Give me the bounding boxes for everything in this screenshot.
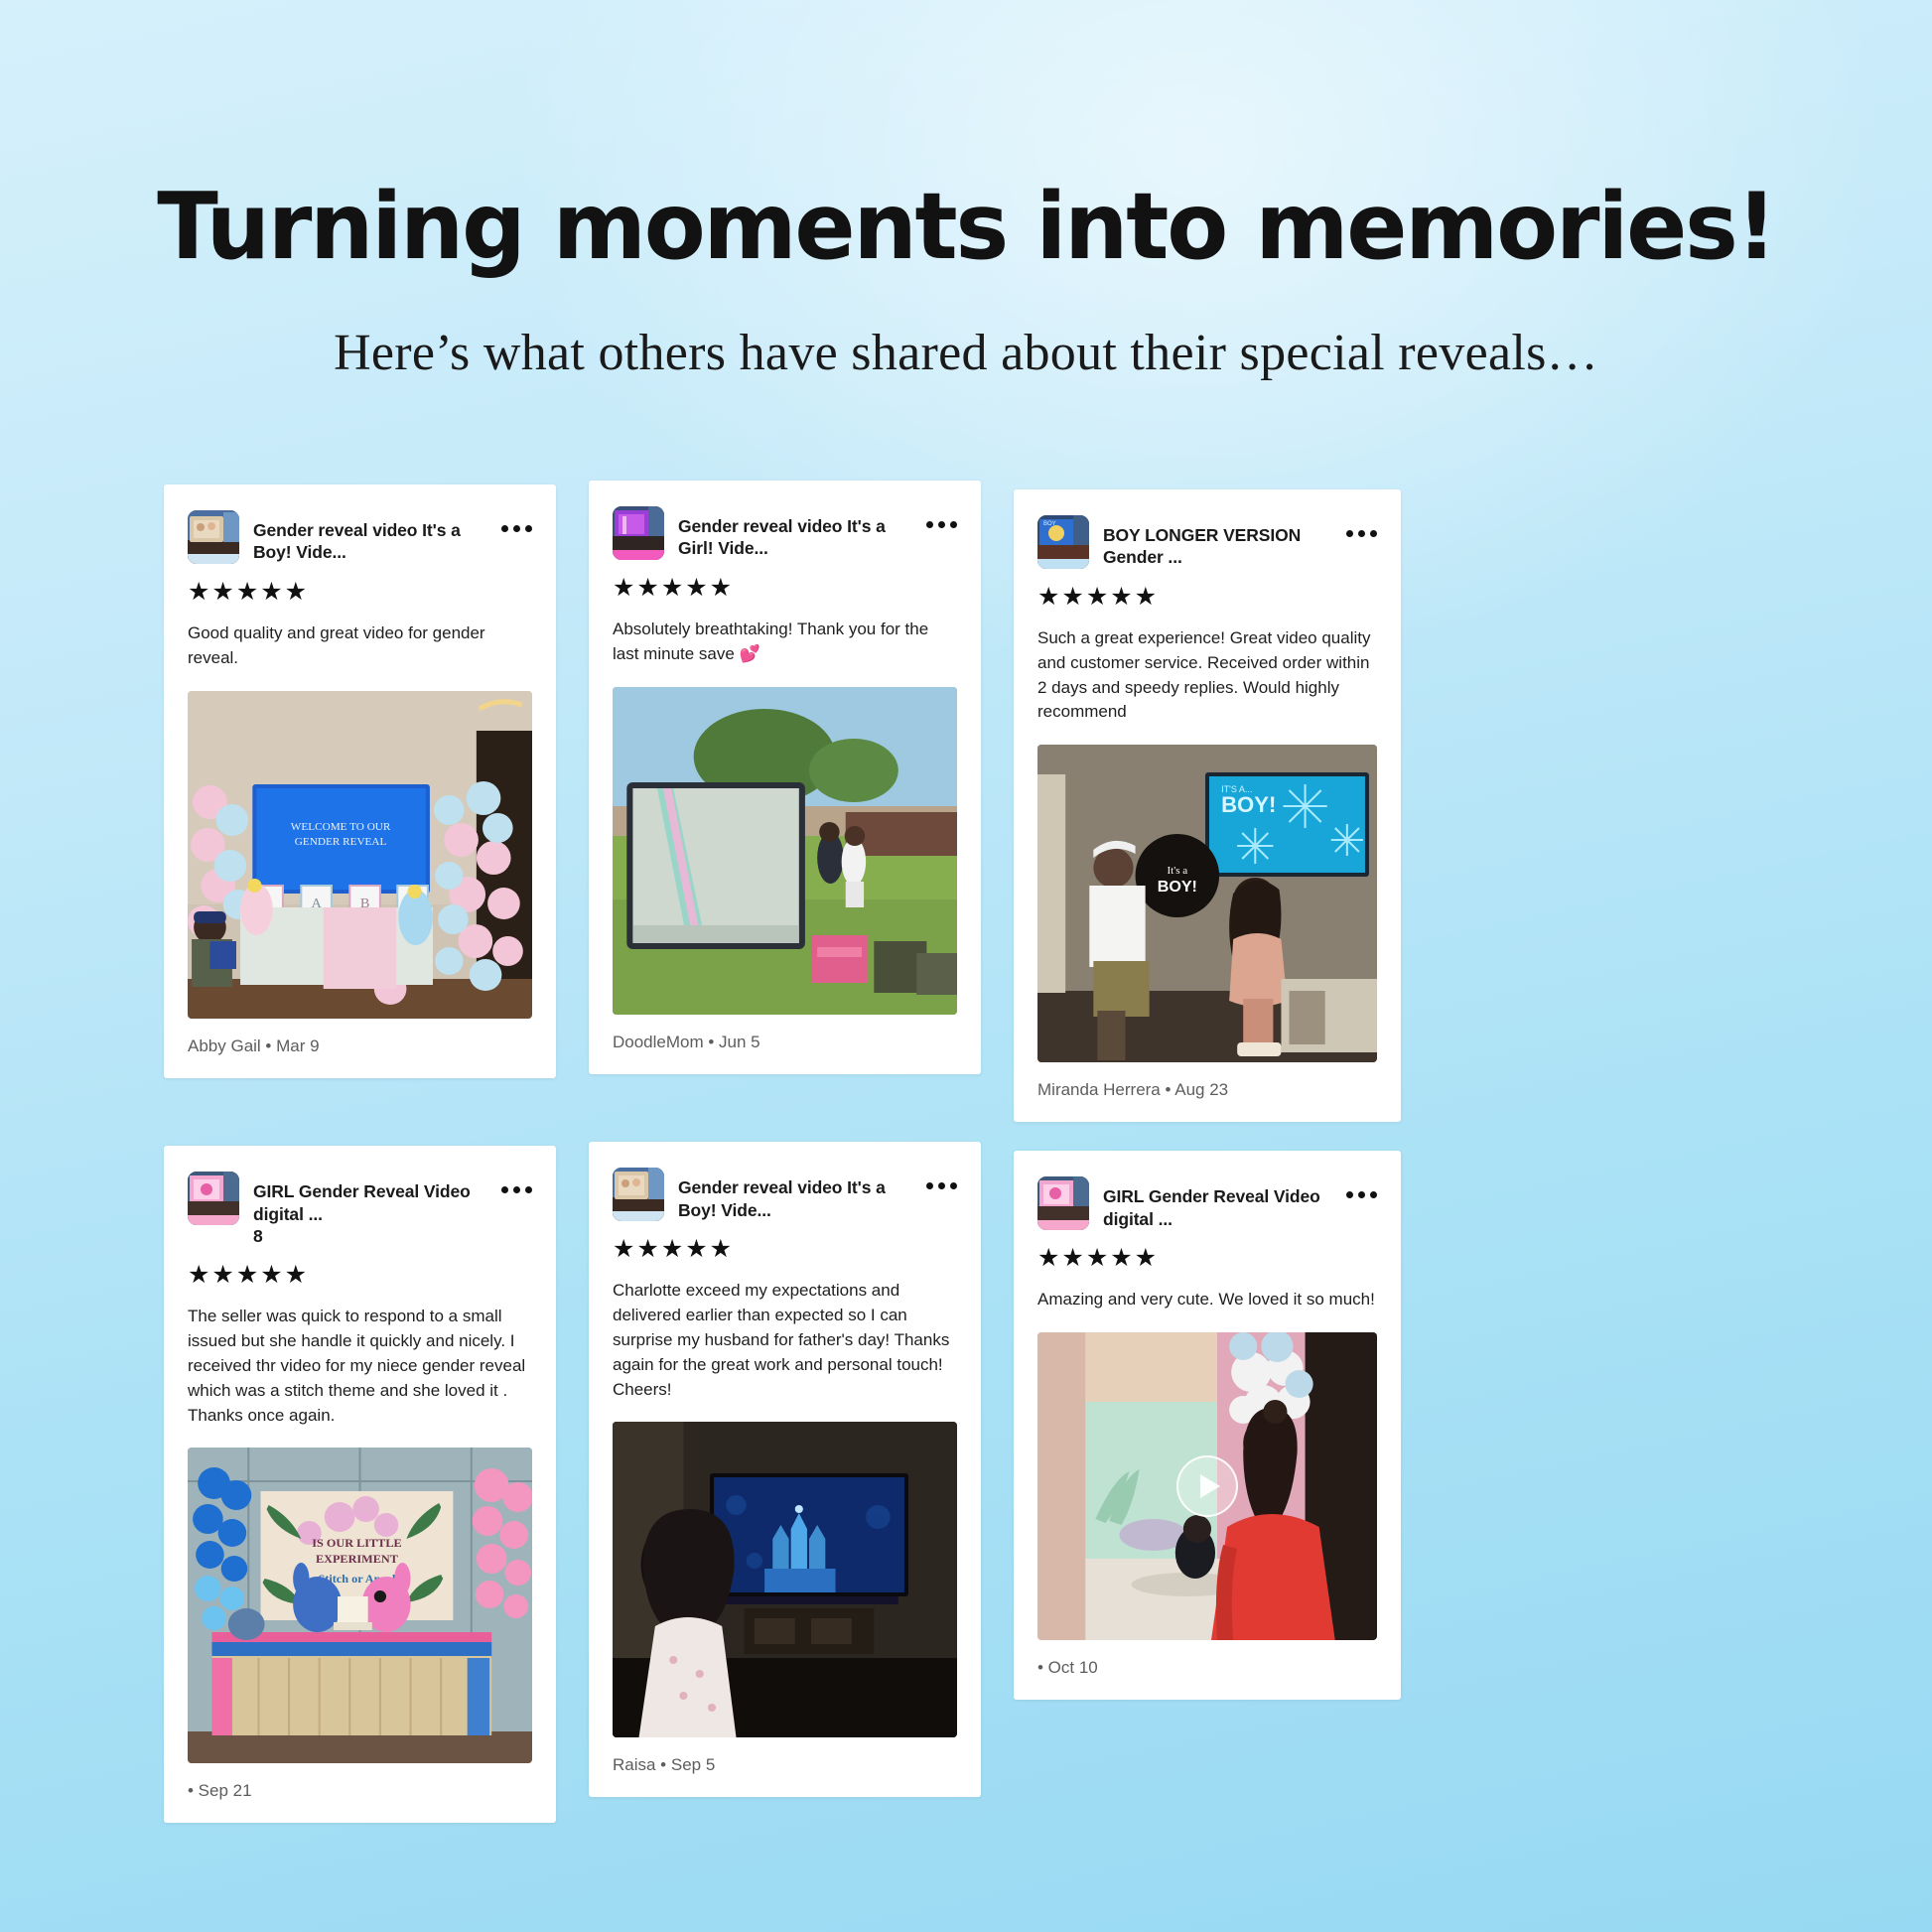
review-card[interactable]: BOY BOY LONGER VERSION Gender ... ★★★★★ … [1014,489,1401,1122]
review-byline: DoodleMom • Jun 5 [613,1033,957,1052]
listing-title-text: GIRL Gender Reveal Video digital ... [253,1181,471,1223]
review-byline: Abby Gail • Mar 9 [188,1036,532,1056]
listing-title[interactable]: Gender reveal video It's a Boy! Vide... [253,510,487,564]
star-rating: ★★★★★ [1037,1246,1377,1271]
listing-title[interactable]: Gender reveal video It's a Boy! Vide... [678,1168,912,1221]
star-rating: ★★★★★ [613,1237,957,1262]
review-text-body: Absolutely breathtaking! Thank you for t… [613,620,928,663]
listing-thumbnail[interactable]: BOY [1037,515,1089,569]
ellipsis-icon[interactable] [1346,515,1377,537]
listing-title-line2: 8 [253,1226,263,1246]
review-byline: Raisa • Sep 5 [613,1755,957,1775]
review-text: The seller was quick to respond to a sma… [188,1305,532,1428]
review-photo[interactable]: IT'S A... BOY! It's a BOY! [1037,745,1377,1062]
ellipsis-icon[interactable] [926,506,957,528]
svg-text:EXPERIMENT: EXPERIMENT [316,1553,398,1567]
review-byline: • Sep 21 [188,1781,532,1801]
star-rating: ★★★★★ [188,1263,532,1288]
ellipsis-icon[interactable] [1346,1176,1377,1198]
hearts-icon: 💕 [740,644,760,663]
listing-thumbnail[interactable] [613,506,664,560]
svg-text:BOY!: BOY! [1221,792,1276,817]
listing-thumbnail[interactable] [613,1168,664,1221]
review-photo[interactable]: WELCOME TO OUR GENDER REVEAL [188,691,532,1019]
svg-text:It's a: It's a [1167,865,1187,877]
reviews-grid: Gender reveal video It's a Boy! Vide... … [164,484,1768,1823]
listing-title[interactable]: GIRL Gender Reveal Video digital ...8 [253,1172,487,1247]
review-card-header: Gender reveal video It's a Boy! Vide... [613,1168,957,1221]
review-photo[interactable] [613,1422,957,1737]
review-photo[interactable]: IS OUR LITTLE EXPERIMENT Stitch or Angel [188,1448,532,1763]
review-video[interactable] [1037,1332,1377,1640]
svg-text:WELCOME TO OUR: WELCOME TO OUR [291,821,391,833]
review-text: Such a great experience! Great video qua… [1037,626,1377,725]
review-card-header: Gender reveal video It's a Boy! Vide... [188,510,532,564]
review-text: Charlotte exceed my expectations and del… [613,1279,957,1402]
play-icon[interactable] [1176,1455,1238,1517]
review-card[interactable]: GIRL Gender Reveal Video digital ... ★★★… [1014,1151,1401,1700]
listing-title[interactable]: GIRL Gender Reveal Video digital ... [1103,1176,1332,1230]
star-rating: ★★★★★ [188,580,532,605]
ellipsis-icon[interactable] [501,1172,532,1193]
review-text: Good quality and great video for gender … [188,621,532,671]
review-text: Absolutely breathtaking! Thank you for t… [613,618,957,667]
review-card-header: GIRL Gender Reveal Video digital ...8 [188,1172,532,1247]
page-title: Turning moments into memories! [29,181,1903,273]
listing-thumbnail[interactable] [188,1172,239,1225]
svg-text:IS OUR LITTLE: IS OUR LITTLE [312,1537,401,1551]
review-text: Amazing and very cute. We loved it so mu… [1037,1288,1377,1312]
page-subtitle: Here’s what others have shared about the… [0,325,1932,381]
review-byline: • Oct 10 [1037,1658,1377,1678]
review-card[interactable]: Gender reveal video It's a Girl! Vide...… [589,481,981,1074]
listing-title[interactable]: BOY LONGER VERSION Gender ... [1103,515,1332,569]
review-card-header: Gender reveal video It's a Girl! Vide... [613,506,957,560]
svg-text:BOY: BOY [1043,521,1056,527]
review-card[interactable]: Gender reveal video It's a Boy! Vide... … [164,484,556,1078]
review-card-header: BOY BOY LONGER VERSION Gender ... [1037,515,1377,569]
review-card-header: GIRL Gender Reveal Video digital ... [1037,1176,1377,1230]
listing-title[interactable]: Gender reveal video It's a Girl! Vide... [678,506,912,560]
svg-text:BOY!: BOY! [1158,878,1197,896]
review-card[interactable]: GIRL Gender Reveal Video digital ...8 ★★… [164,1146,556,1823]
listing-thumbnail[interactable] [188,510,239,564]
star-rating: ★★★★★ [613,576,957,601]
star-rating: ★★★★★ [1037,585,1377,610]
testimonials-page: Turning moments into memories! Here’s wh… [0,0,1932,1932]
listing-thumbnail[interactable] [1037,1176,1089,1230]
review-card[interactable]: Gender reveal video It's a Boy! Vide... … [589,1142,981,1797]
review-byline: Miranda Herrera • Aug 23 [1037,1080,1377,1100]
svg-text:GENDER REVEAL: GENDER REVEAL [295,836,387,848]
ellipsis-icon[interactable] [926,1168,957,1189]
ellipsis-icon[interactable] [501,510,532,532]
page-header: Turning moments into memories! Here’s wh… [0,0,1932,381]
review-photo[interactable] [613,687,957,1015]
